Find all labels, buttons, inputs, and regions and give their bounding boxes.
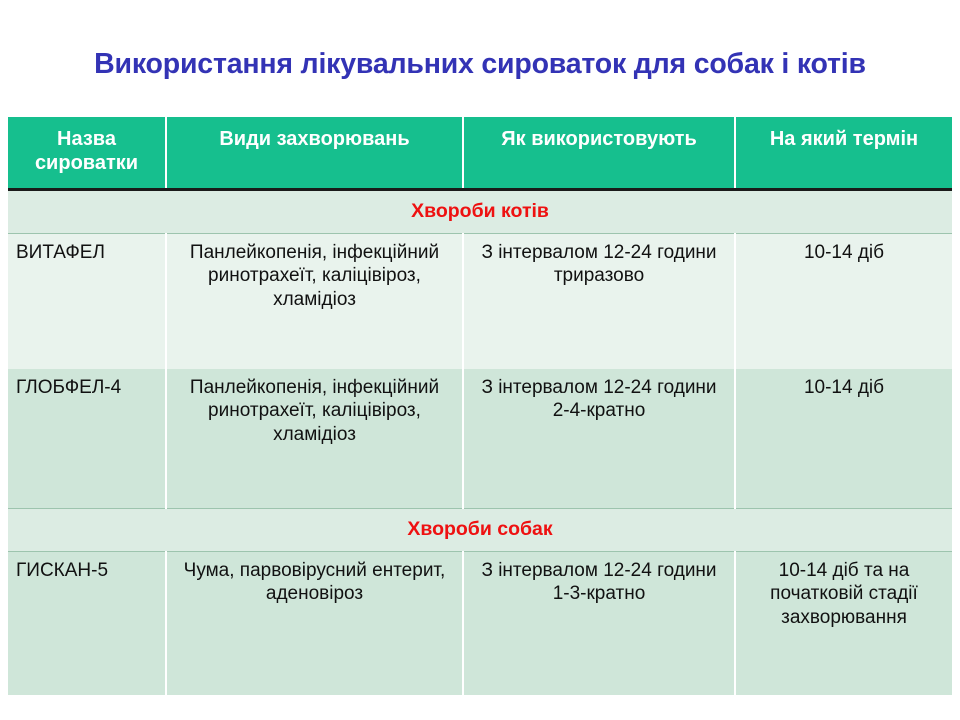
table-row: ГЛОБФЕЛ-4 Панлейкопенія, інфекційний рин…: [8, 369, 952, 509]
cell-usage: З інтервалом 12-24 години 2-4-кратно: [463, 369, 735, 509]
section-label-dogs: Хвороби собак: [8, 508, 952, 551]
table-header-row: Назва сироватки Види захворювань Як вико…: [8, 117, 952, 189]
page-title: Використання лікувальних сироваток для с…: [0, 48, 960, 81]
section-header-row-cats: Хвороби котів: [8, 189, 952, 233]
column-header-term: На який термін: [735, 117, 952, 189]
section-label-cats: Хвороби котів: [8, 189, 952, 233]
cell-diseases: Чума, парвовірусний ентерит, аденовіроз: [166, 551, 463, 695]
slide-canvas: Використання лікувальних сироваток для с…: [0, 0, 960, 720]
cell-serum-name: ГИСКАН-5: [8, 551, 166, 695]
cell-usage: З інтервалом 12-24 години 1-3-кратно: [463, 551, 735, 695]
serum-table-container: Назва сироватки Види захворювань Як вико…: [8, 117, 952, 695]
table-row: ГИСКАН-5 Чума, парвовірусний ентерит, ад…: [8, 551, 952, 695]
column-header-disease-types: Види захворювань: [166, 117, 463, 189]
cell-diseases: Панлейкопенія, інфекційний ринотрахеїт, …: [166, 369, 463, 509]
serum-usage-table: Назва сироватки Види захворювань Як вико…: [8, 117, 952, 695]
column-header-serum-name: Назва сироватки: [8, 117, 166, 189]
table-row: ВИТАФЕЛ Панлейкопенія, інфекційний ринот…: [8, 233, 952, 369]
cell-serum-name: ВИТАФЕЛ: [8, 233, 166, 369]
cell-term: 10-14 діб та на початковій стадії захвор…: [735, 551, 952, 695]
cell-term: 10-14 діб: [735, 369, 952, 509]
column-header-how-to-use: Як використовують: [463, 117, 735, 189]
cell-term: 10-14 діб: [735, 233, 952, 369]
section-header-row-dogs: Хвороби собак: [8, 508, 952, 551]
cell-usage: З інтервалом 12-24 години триразово: [463, 233, 735, 369]
cell-serum-name: ГЛОБФЕЛ-4: [8, 369, 166, 509]
cell-diseases: Панлейкопенія, інфекційний ринотрахеїт, …: [166, 233, 463, 369]
